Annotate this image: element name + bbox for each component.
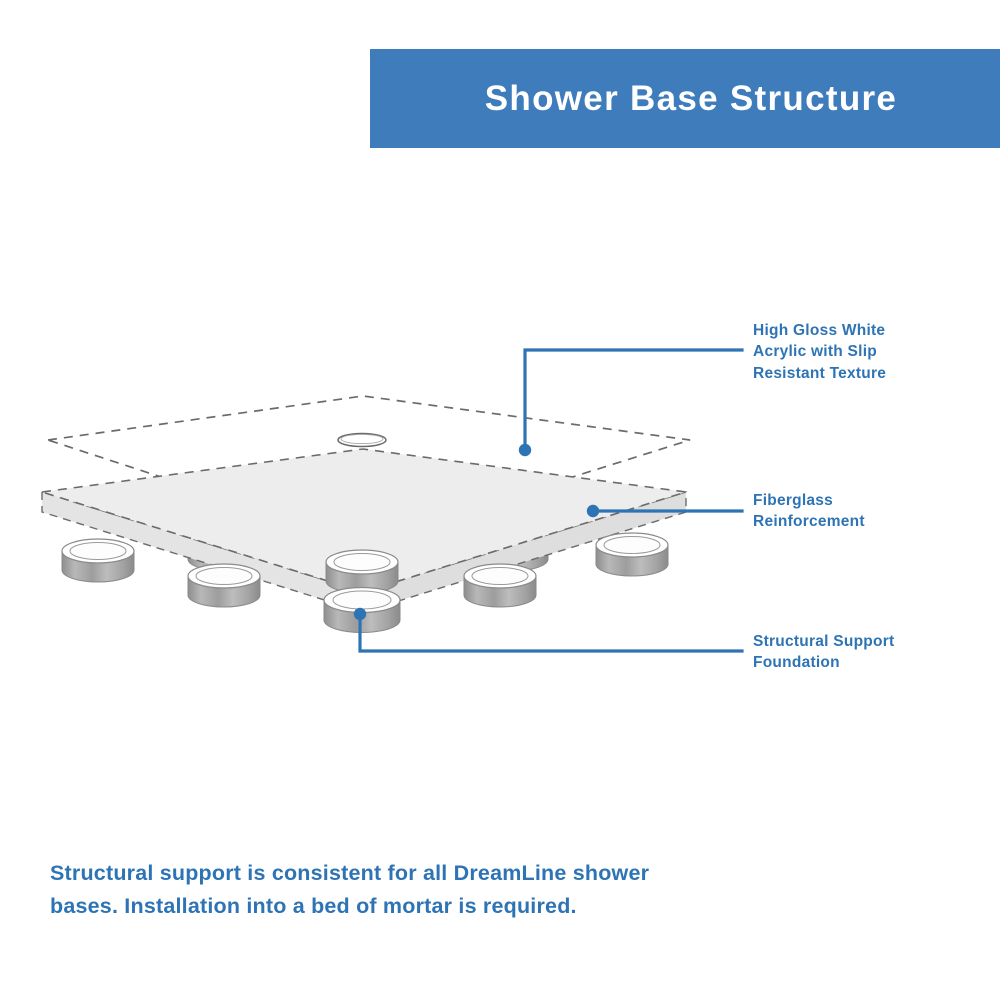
support-ring [326,550,398,593]
callout-high-gloss-white-acrylic: High Gloss White Acrylic with Slip Resis… [753,320,983,384]
support-ring [62,539,134,582]
diagram-page: Shower Base Structure [0,0,1000,1000]
leader-dot-support [354,608,366,620]
support-ring [464,564,536,607]
support-ring [188,564,260,607]
support-ring [596,533,668,576]
leader-line-support [354,608,742,651]
footer-caption: Structural support is consistent for all… [50,857,690,922]
leader-dot-fiberglass [587,505,599,517]
leader-dot-acrylic [519,444,531,456]
callout-fiberglass-reinforcement: Fiberglass Reinforcement [753,490,983,533]
drain-opening-icon [338,434,386,447]
callout-structural-support-foundation: Structural Support Foundation [753,631,983,674]
